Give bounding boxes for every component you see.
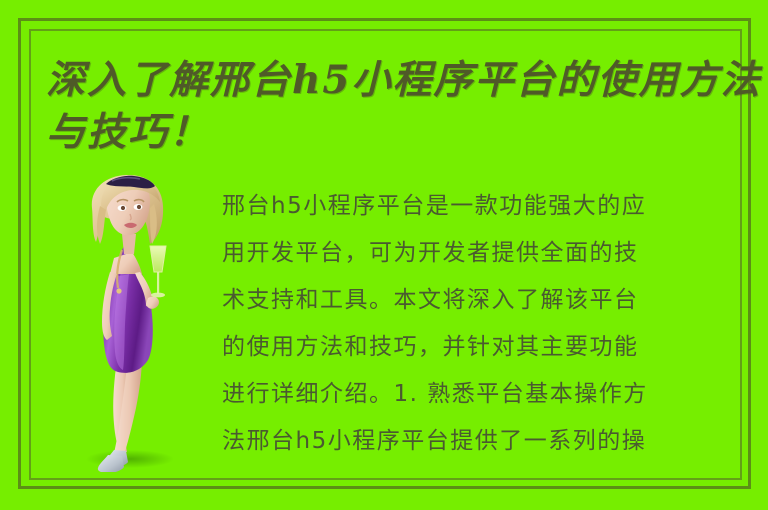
body-line-3: 术支持和工具。本文将深入了解该平台: [222, 277, 727, 324]
champagne-glass-stem: [157, 272, 159, 294]
body-line-6: 法邢台h5小程序平台提供了一系列的操: [222, 418, 727, 465]
champagne-glass-bowl: [150, 246, 166, 272]
cartoon-woman-illustration: [62, 172, 202, 472]
body-line-2: 用开发平台，可为开发者提供全面的技: [222, 230, 727, 277]
page-title: 深入了解邢台h5小程序平台的使用方法 与技巧！: [46, 54, 736, 158]
title-line-1: 深入了解邢台h5小程序平台的使用方法: [46, 54, 736, 106]
necklace-pendant: [116, 288, 121, 293]
body-line-4: 的使用方法和技巧，并针对其主要功能: [222, 324, 727, 371]
ground-shadow: [86, 450, 174, 468]
right-hand: [146, 297, 159, 309]
right-pupil: [137, 205, 141, 209]
poster-canvas: 深入了解邢台h5小程序平台的使用方法 与技巧！ 邢台h5小程序平台是一款功能强大…: [0, 0, 768, 510]
title-line-2: 与技巧！: [46, 106, 736, 158]
neck: [122, 234, 136, 254]
article-body: 邢台h5小程序平台是一款功能强大的应 用开发平台，可为开发者提供全面的技 术支持…: [222, 183, 727, 483]
torso: [110, 252, 142, 274]
body-line-1: 邢台h5小程序平台是一款功能强大的应: [222, 183, 727, 230]
champagne-glass-base: [151, 293, 165, 298]
left-pupil: [121, 206, 125, 210]
body-line-5: 进行详细介绍。1. 熟悉平台基本操作方: [222, 371, 727, 418]
